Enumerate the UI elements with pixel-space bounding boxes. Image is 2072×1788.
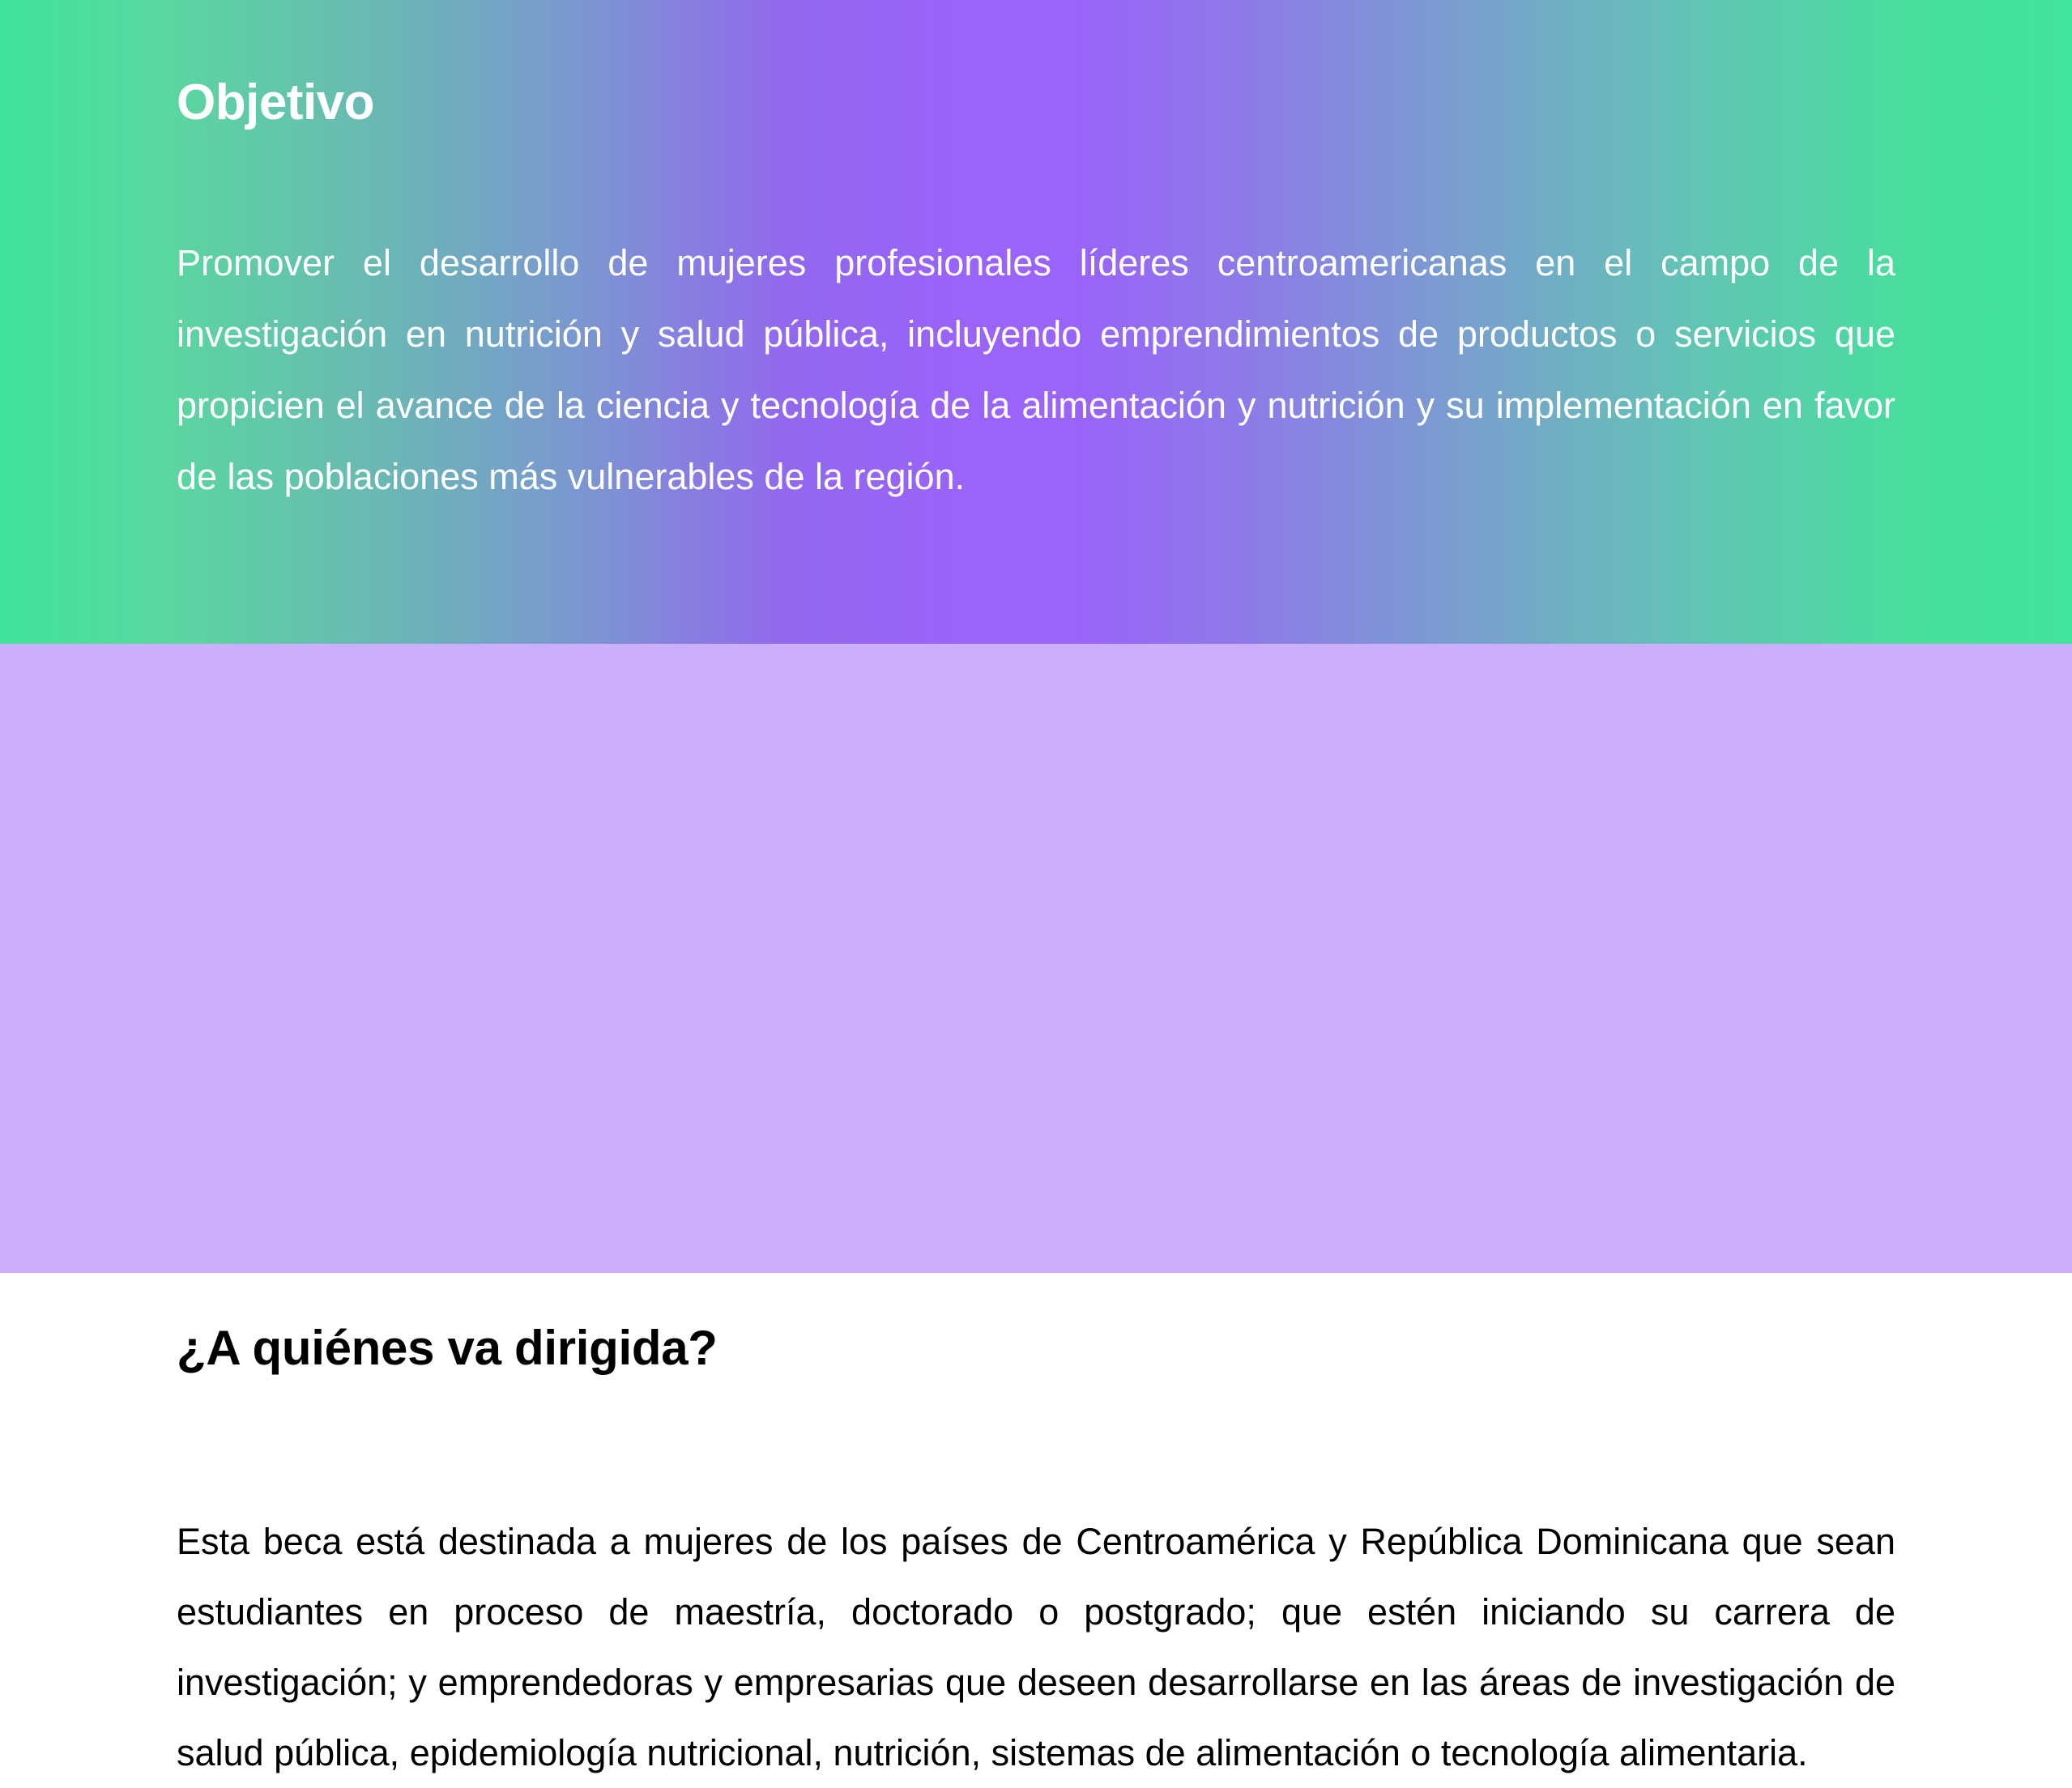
section-objetivo: Objetivo Promover el desarrollo de mujer… — [0, 0, 2072, 644]
dirigida-paragraph: Esta beca está destinada a mujeres de lo… — [177, 1506, 1895, 1788]
page-root: Objetivo Promover el desarrollo de mujer… — [0, 0, 2072, 1273]
section-dirigida: ¿A quiénes va dirigida? Esta beca está d… — [0, 644, 2072, 1273]
objetivo-heading: Objetivo — [177, 78, 374, 128]
dirigida-heading: ¿A quiénes va dirigida? — [177, 1324, 718, 1373]
objetivo-paragraph: Promover el desarrollo de mujeres profes… — [177, 228, 1895, 513]
